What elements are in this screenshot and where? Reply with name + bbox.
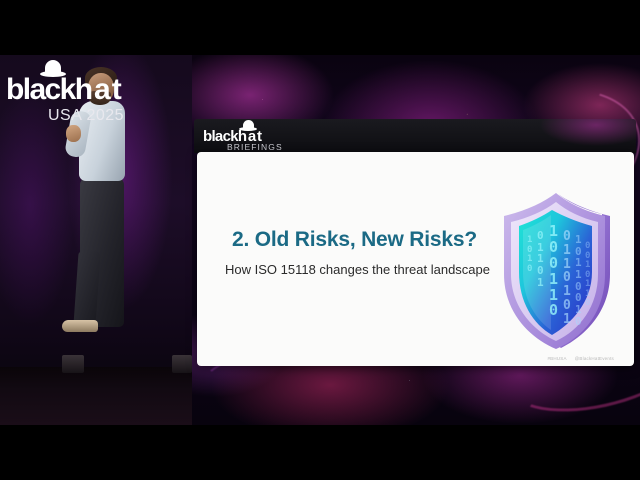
conference-talk-video-frame: blackhat USA 2025 blackhat BRIEFINGS 2. … — [0, 0, 640, 480]
briefings-logo: blackhat BRIEFINGS — [203, 120, 313, 152]
speaker-shoe — [62, 320, 98, 332]
logo-word-black: black — [6, 73, 75, 106]
logo-word-hat: hat — [75, 73, 123, 106]
stage-monitor — [172, 355, 192, 373]
letterbox-bottom — [0, 425, 640, 480]
binary-shield-icon: 1 0 1 0 0 1 1 0 1 1 0 0 1 1 0 0 1 1 0 1 … — [497, 190, 619, 352]
presentation-slide: blackhat BRIEFINGS 2. Old Risks, New Ris… — [194, 119, 636, 367]
black-hat-logo-overlay: blackhat USA 2025 — [4, 58, 164, 130]
slide-header-bar: blackhat BRIEFINGS — [194, 119, 636, 153]
letterbox-top — [0, 0, 640, 55]
slide-footer: #BHUSA @BlackHatEvents — [547, 356, 614, 361]
logo-wordmark: blackhat — [6, 75, 162, 105]
slide-body: 2. Old Risks, New Risks? How ISO 15118 c… — [197, 152, 634, 366]
footer-handle: @BlackHatEvents — [575, 356, 614, 361]
slide-title: 2. Old Risks, New Risks? — [232, 228, 477, 252]
logo-edition-label: USA 2025 — [48, 107, 124, 125]
slide-subtitle: How ISO 15118 changes the threat landsca… — [225, 262, 490, 277]
stage-floor — [0, 367, 192, 425]
briefings-subtitle: BRIEFINGS — [227, 142, 283, 152]
footer-hashtag: #BHUSA — [547, 356, 566, 361]
stage-monitor — [62, 355, 84, 373]
